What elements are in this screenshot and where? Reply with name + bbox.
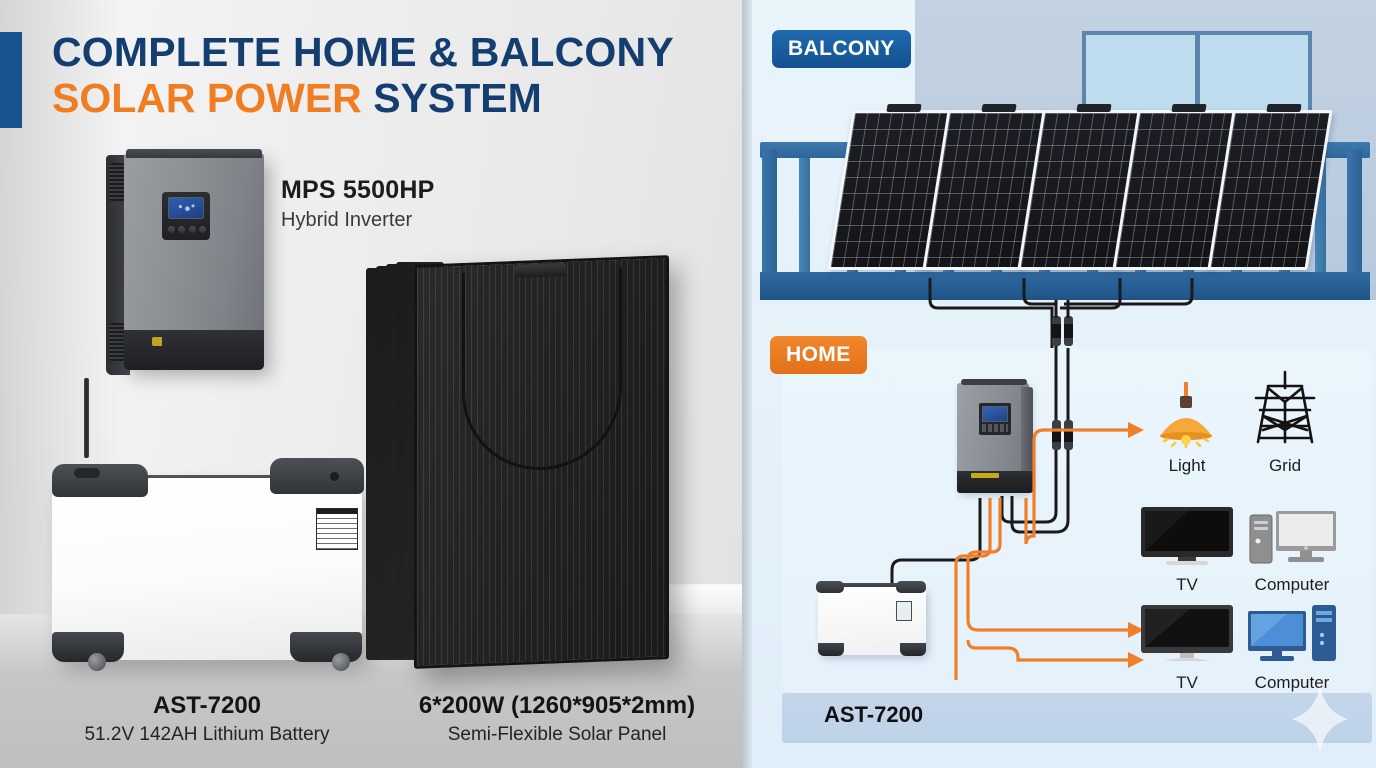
- battery-caster: [88, 653, 106, 671]
- battery-model-subtitle: 51.2V 142AH Lithium Battery: [42, 724, 372, 746]
- diagram-battery: [814, 575, 932, 667]
- power-pylon-icon: [1242, 368, 1328, 448]
- tv-icon: [1138, 603, 1236, 665]
- ac-wire-down: [956, 498, 990, 680]
- sparkle-icon: [1292, 686, 1348, 752]
- dc-wire-pv: [1012, 300, 1068, 532]
- inverter-model-name: MPS 5500HP: [281, 176, 434, 205]
- battery-handle-right: [270, 458, 364, 494]
- appliance-label: Grid: [1242, 456, 1328, 476]
- appliance-label: Light: [1144, 456, 1230, 476]
- panel-model-subtitle: Semi-Flexible Solar Panel: [382, 724, 732, 746]
- desktop-computer-blue-icon: [1242, 603, 1342, 665]
- battery-caption: AST-7200 51.2V 142AH Lithium Battery: [42, 692, 372, 746]
- solar-panel-stack-photo: [366, 256, 686, 676]
- appliance-label: Computer: [1242, 575, 1342, 595]
- appliance-grid: Grid: [1242, 368, 1328, 476]
- diagram-battery-handle-right: [896, 581, 926, 593]
- inverter-button: [199, 226, 206, 233]
- appliance-tv-2: TV: [1138, 603, 1236, 693]
- battery-spec-label: [316, 508, 358, 550]
- headline-line-1: COMPLETE HOME & BALCONY: [52, 30, 722, 76]
- inverter-caption: MPS 5500HP Hybrid Inverter: [281, 176, 434, 232]
- inverter-lcd-screen: [168, 197, 204, 219]
- arrow-to-light: [1128, 422, 1144, 438]
- appliance-label: TV: [1138, 575, 1236, 595]
- tv-icon: [1138, 505, 1236, 567]
- solar-panel-junction-box: [514, 263, 566, 278]
- headline-rest: SYSTEM: [362, 75, 542, 121]
- dc-wire-pv: [1002, 300, 1056, 522]
- battery-port-icon: [330, 472, 339, 481]
- inverter-button-row: [168, 223, 206, 235]
- inverter-top-rail: [126, 149, 262, 158]
- headline-line-2: SOLAR POWER SYSTEM: [52, 76, 722, 122]
- infographic-root: COMPLETE HOME & BALCONY SOLAR POWER SYST…: [0, 0, 1376, 768]
- appliance-computer-1: Computer: [1242, 505, 1342, 595]
- diagram-battery-handle-left: [816, 581, 844, 593]
- battery-caster: [332, 653, 350, 671]
- battery-handle-left: [52, 464, 148, 497]
- diagram-battery-foot-right: [900, 643, 926, 656]
- inverter-output-cable: [84, 378, 89, 458]
- ac-wire-light: [1026, 430, 1128, 544]
- inverter-product-photo: [106, 145, 268, 380]
- inverter-bottom-cover: [124, 330, 264, 370]
- appliance-computer-2: Computer: [1242, 603, 1342, 693]
- panel-divider: [742, 0, 752, 768]
- battery-foot-right: [290, 632, 362, 662]
- ac-wire-tv2: [968, 640, 1132, 660]
- battery-terminal-knob: [74, 468, 100, 478]
- inverter-vent-top-icon: [109, 163, 125, 201]
- panel-model-name: 6*200W (1260*905*2mm): [382, 692, 732, 720]
- appliance-light: Light: [1144, 382, 1230, 476]
- headline-block: COMPLETE HOME & BALCONY SOLAR POWER SYST…: [52, 30, 722, 122]
- diagram-battery-label: AST-7200: [824, 702, 923, 728]
- inverter-button: [189, 226, 196, 233]
- diagram-battery-foot-left: [818, 643, 844, 656]
- inverter-button: [168, 226, 175, 233]
- battery-model-name: AST-7200: [42, 692, 372, 720]
- inverter-model-subtitle: Hybrid Inverter: [281, 209, 434, 232]
- inverter-button: [178, 226, 185, 233]
- right-diagram-panel: BALCONY HOME: [752, 0, 1376, 768]
- appliance-label: TV: [1138, 673, 1236, 693]
- appliance-tv-1: TV: [1138, 505, 1236, 595]
- ac-wire-tv1: [968, 498, 1132, 630]
- pendant-lamp-icon: [1144, 382, 1230, 448]
- inverter-brand-logo: [152, 337, 198, 346]
- title-accent-bar: [0, 32, 22, 128]
- solar-panel-cable: [462, 267, 622, 473]
- battery-product-photo: [44, 450, 374, 680]
- inverter-vent-bottom-icon: [109, 323, 125, 361]
- panel-caption: 6*200W (1260*905*2mm) Semi-Flexible Sola…: [382, 692, 732, 746]
- diagram-battery-display: [896, 601, 912, 621]
- badge-balcony[interactable]: BALCONY: [772, 30, 911, 68]
- left-product-panel: COMPLETE HOME & BALCONY SOLAR POWER SYST…: [0, 0, 742, 768]
- headline-highlight: SOLAR POWER: [52, 75, 362, 121]
- desktop-computer-icon: [1242, 505, 1342, 567]
